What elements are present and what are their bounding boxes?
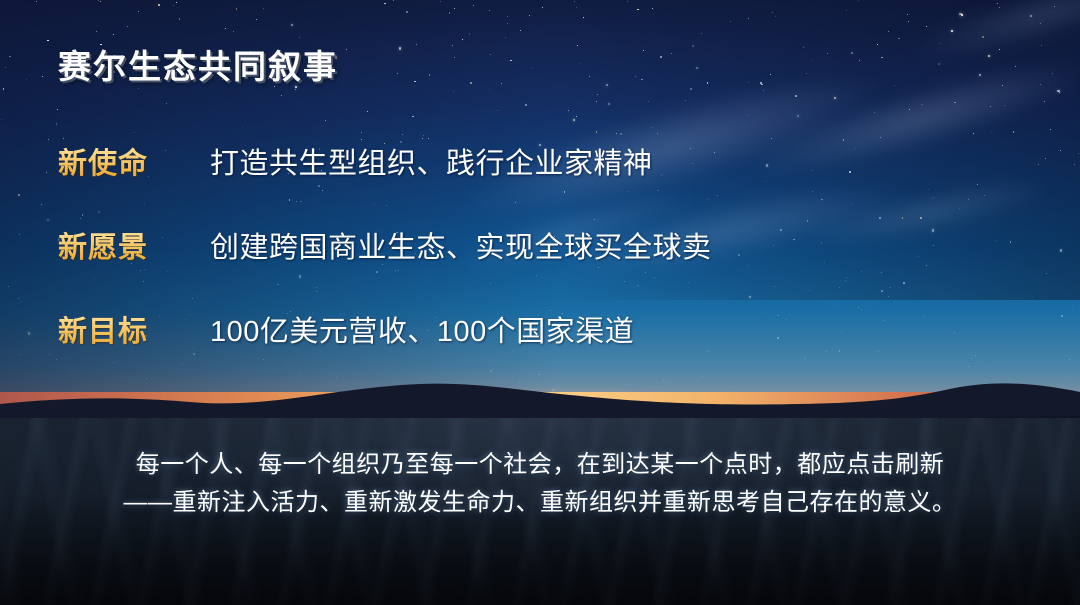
row-text-goal: 100亿美元营收、100个国家渠道 <box>210 308 634 350</box>
row-label-mission: 新使命 <box>58 140 210 182</box>
row-label-goal: 新目标 <box>58 308 210 350</box>
narrative-rows: 新使命 打造共生型组织、践行企业家精神 新愿景 创建跨国商业生态、实现全球买全球… <box>58 140 1018 392</box>
footer-quote-line-1: 每一个人、每一个组织乃至每一个社会，在到达某一个点时，都应点击刷新 <box>0 446 1080 484</box>
slide-title: 赛尔生态共同叙事 <box>58 40 338 88</box>
slide-canvas: 赛尔生态共同叙事 新使命 打造共生型组织、践行企业家精神 新愿景 创建跨国商业生… <box>0 0 1080 605</box>
footer-quote-line-2: ——重新注入活力、重新激发生命力、重新组织并重新思考自己存在的意义。 <box>0 484 1080 522</box>
footer-quote: 每一个人、每一个组织乃至每一个社会，在到达某一个点时，都应点击刷新 ——重新注入… <box>0 446 1080 522</box>
narrative-row-goal: 新目标 100亿美元营收、100个国家渠道 <box>58 308 1018 392</box>
narrative-row-vision: 新愿景 创建跨国商业生态、实现全球买全球卖 <box>58 224 1018 308</box>
row-text-vision: 创建跨国商业生态、实现全球买全球卖 <box>210 224 712 266</box>
row-label-vision: 新愿景 <box>58 224 210 266</box>
narrative-row-mission: 新使命 打造共生型组织、践行企业家精神 <box>58 140 1018 224</box>
row-text-mission: 打造共生型组织、践行企业家精神 <box>210 140 653 182</box>
